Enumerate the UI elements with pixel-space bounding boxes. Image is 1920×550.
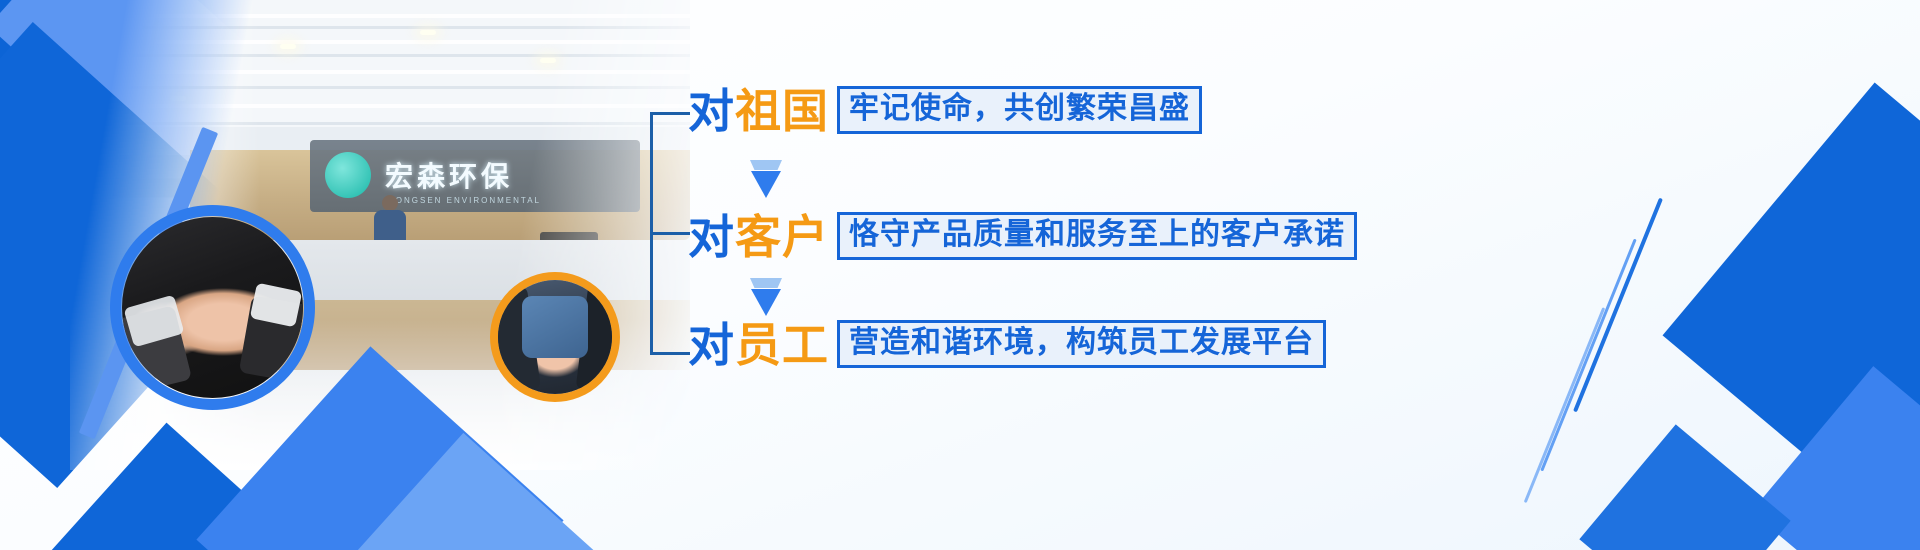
down-arrow-2: [746, 278, 786, 318]
company-sign-subtext: HONGSEN ENVIRONMENTAL: [388, 196, 541, 205]
blue-shirt: [522, 296, 588, 358]
down-arrow-1: [746, 160, 786, 200]
slogan-lead-subject: 客户: [735, 211, 829, 263]
promo-banner: 宏森环保 HONGSEN ENVIRONMENTAL: [0, 0, 1920, 550]
ceiling-light: [280, 44, 296, 49]
deco-diagonal-line-3: [1523, 307, 1604, 503]
arrow-body: [751, 289, 781, 316]
bracket-connector: [650, 112, 690, 355]
slogan-lead-prefix: 对: [688, 211, 735, 263]
bracket-tick-top: [650, 112, 690, 115]
slogan-tag-country: 牢记使命，共创繁荣昌盛: [837, 86, 1202, 134]
slogan-lead-prefix: 对: [688, 319, 735, 371]
slogan-lead-country: 对祖国: [688, 88, 829, 134]
company-sign-text: 宏森环保: [385, 152, 635, 198]
slogan-tag-customer: 恪守产品质量和服务至上的客户承诺: [837, 212, 1357, 260]
slogan-lead-subject: 祖国: [735, 85, 829, 137]
deco-diagonal-line-1: [1573, 198, 1663, 413]
slogan-lead-subject: 员工: [735, 319, 829, 371]
company-logo-icon: [325, 152, 371, 198]
slogan-lead-customer: 对客户: [688, 214, 829, 260]
slogan-group: 对祖国 牢记使命，共创繁荣昌盛 对客户 恪守产品质量和服务至上的客户承诺 对员工…: [650, 0, 1370, 550]
slogan-row-customer: 对客户 恪守产品质量和服务至上的客户承诺: [688, 212, 1357, 260]
slogan-tag-employee: 营造和谐环境，构筑员工发展平台: [837, 320, 1326, 368]
bracket-tick-middle: [650, 232, 690, 235]
slogan-lead-employee: 对员工: [688, 322, 829, 368]
handshake-circle-photo: [122, 217, 303, 398]
slogan-row-employee: 对员工 营造和谐环境，构筑员工发展平台: [688, 320, 1326, 368]
slogan-row-country: 对祖国 牢记使命，共创繁荣昌盛: [688, 86, 1202, 134]
slogan-lead-prefix: 对: [688, 85, 735, 137]
arrow-body: [751, 171, 781, 198]
bracket-tick-bottom: [650, 352, 690, 355]
deco-diagonal-line-2: [1540, 239, 1636, 472]
arrow-cap: [750, 278, 782, 288]
ceiling-light: [540, 58, 556, 63]
gesture-circle-photo: [498, 280, 612, 394]
figure-head: [382, 195, 398, 211]
arrow-cap: [750, 160, 782, 170]
ceiling-light: [420, 30, 436, 35]
deco-shape-right-3: [1579, 424, 1790, 550]
